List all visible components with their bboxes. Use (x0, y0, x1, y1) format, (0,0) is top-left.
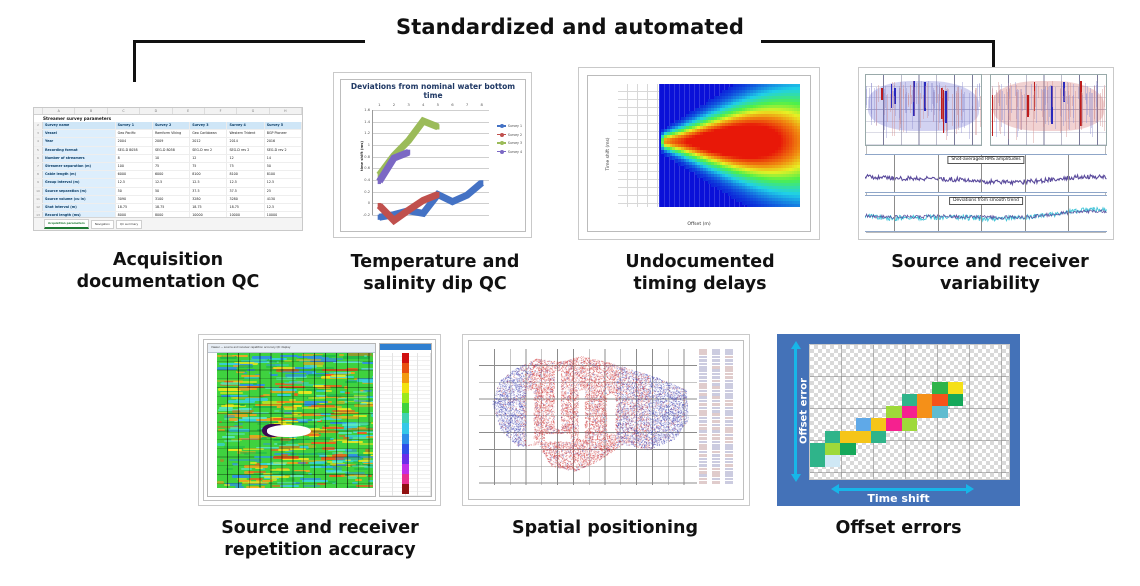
cell: 12.5 (265, 204, 302, 211)
data-gap (267, 425, 311, 437)
seismic-trace (866, 86, 867, 109)
legend-swatch (497, 151, 506, 153)
caption-undocumented-timing-delays: Undocumented timing delays (600, 252, 800, 296)
seismic-trace (910, 85, 911, 97)
repetition-heatmap: Viewer — source and receiver repetition … (207, 343, 376, 497)
x-tick: 7 (466, 102, 468, 107)
legend-column (699, 349, 707, 487)
spatial-positioning-map (463, 335, 749, 505)
legend-column (725, 349, 733, 487)
seismic-trace (1009, 89, 1010, 119)
series-marker (480, 180, 483, 185)
series-marker (451, 199, 454, 204)
cell: 18.75 (227, 204, 264, 211)
scale-swatch (402, 413, 409, 423)
cell: Cable length (m) (43, 171, 116, 178)
offset-error-axis-label: Offset error (799, 378, 810, 444)
scale-swatch (402, 393, 409, 403)
panel-gridline (894, 155, 895, 193)
cell: Survey 1 (116, 122, 153, 129)
cell: Survey name (43, 122, 116, 129)
seismic-trace (1001, 84, 1002, 127)
cell: 18.75 (116, 204, 153, 211)
col-H[interactable]: H (270, 108, 302, 114)
legend-label: Survey 1 (508, 124, 522, 128)
heatmap-empty-region (618, 84, 659, 207)
scale-swatch (402, 383, 409, 393)
series-marker (407, 208, 410, 213)
y-tick: 0.8 (364, 155, 370, 159)
y-tick: 0.2 (364, 190, 370, 194)
seismic-trace (976, 88, 977, 135)
seismic-trace (1016, 92, 1017, 140)
cell: 2016 (265, 138, 302, 145)
seismic-trace (1022, 95, 1023, 111)
legend-swatch (497, 134, 506, 136)
seismic-trace (914, 87, 915, 116)
scale-swatch (402, 464, 409, 474)
cell: 2014 (227, 138, 264, 145)
legend-label: Survey 3 (508, 141, 522, 145)
caption-source-receiver-repetition-accuracy: Source and receiver repetition accuracy (195, 518, 445, 562)
series-marker (436, 124, 439, 129)
cell: Survey 2 (153, 122, 190, 129)
seismic-trace (972, 90, 973, 106)
seismic-trace (871, 83, 872, 120)
series-marker (378, 215, 381, 220)
seismic-trace (1049, 86, 1050, 116)
spreadsheet-body: 3VesselGeo PacificRamform VikingGeo Cari… (34, 130, 302, 231)
y-tick: 0.4 (364, 178, 370, 182)
y-tick: 0 (368, 201, 370, 205)
cell: 37.5 (227, 188, 264, 195)
series-marker (392, 218, 395, 223)
table-row: 6Number of streamers810121214 (34, 155, 302, 163)
sheet-tab[interactable]: QC summary (116, 220, 142, 229)
seismic-trace (906, 92, 907, 133)
seismic-trace (1070, 83, 1071, 117)
cell: Geo Caribbean (190, 130, 227, 137)
legend-swatch (497, 142, 506, 144)
cell: 8 (116, 155, 153, 162)
rms-amplitude-panel: Shot-averaged RMS amplitudes (865, 154, 1107, 194)
seismic-trace (1048, 87, 1049, 125)
seismic-trace (885, 86, 886, 108)
seismic-trace (969, 93, 970, 139)
panel-gridline (1025, 196, 1026, 232)
legend-label: Survey 2 (508, 133, 522, 137)
timing-delay-heatmap: 01002003004005006007001086420-2-4-6-8-10… (579, 68, 819, 239)
thumbnail-temperature-salinity-dip-qc[interactable]: Deviations from nominal water bottom tim… (333, 72, 532, 238)
x-tick: 4 (422, 102, 424, 107)
seismic-trace (1075, 91, 1076, 129)
cell: 50 (116, 188, 153, 195)
panel-gridline (1068, 196, 1069, 232)
seismic-trace (894, 96, 895, 136)
series-marker (422, 198, 425, 203)
scale-swatch (402, 403, 409, 413)
col-E[interactable]: E (173, 108, 205, 114)
table-row: 11Source volume (cu in)30903100328032804… (34, 196, 302, 204)
seismic-trace (931, 83, 932, 113)
seismic-trace (887, 94, 888, 123)
series-marker (407, 150, 410, 155)
repetition-accuracy-display: Viewer — source and receiver repetition … (199, 335, 440, 505)
map-legend (699, 349, 739, 487)
seismic-trace (1018, 90, 1019, 131)
offset-error-cell[interactable] (825, 443, 840, 455)
offset-error-cell[interactable] (902, 406, 917, 418)
trace-panels (865, 74, 1107, 146)
thumbnail-source-and-receiver-variability[interactable]: Shot-averaged RMS amplitudes Deviations … (858, 67, 1114, 240)
window-title: Viewer — source and receiver repetition … (208, 344, 375, 353)
offset-error-cell[interactable] (932, 382, 947, 394)
seismic-trace (1086, 93, 1087, 123)
series-marker (378, 179, 381, 184)
offset-error-cell[interactable] (932, 394, 947, 406)
scale-swatch (402, 474, 409, 484)
heatmap-data-region (659, 84, 800, 207)
cell: 18.75 (153, 204, 190, 211)
cell: 12.5 (190, 179, 227, 186)
cell: 3280 (190, 196, 227, 203)
seismic-trace (876, 91, 877, 126)
heatmap-xlabel: Offset (m) (588, 222, 810, 227)
seismic-trace (1052, 81, 1053, 106)
offset-error-cell[interactable] (810, 455, 825, 467)
col-C[interactable]: C (108, 108, 140, 114)
chart-plot-area: 1.61.41.210.80.60.40.20-0.2 (372, 110, 489, 215)
cell: Ramform Viking (153, 130, 190, 137)
offset-error-grid (809, 344, 1011, 480)
caption-offset-errors: Offset errors (777, 518, 1020, 540)
offset-errors-display: Offset error Time shift (777, 334, 1020, 506)
seismic-trace (1096, 81, 1097, 107)
sheet-tab[interactable]: Navigation (91, 220, 114, 229)
cell: 12.5 (153, 179, 190, 186)
cell: Survey 5 (265, 122, 302, 129)
offset-error-cell[interactable] (917, 394, 932, 406)
seismic-trace (923, 95, 924, 119)
seismic-trace (912, 90, 913, 130)
seismic-trace (890, 94, 891, 113)
offset-error-cell[interactable] (825, 431, 840, 443)
panel-gridline (938, 155, 939, 193)
series-marker (436, 192, 439, 197)
legend-label: Survey 4 (508, 150, 522, 154)
thumbnail-offset-errors[interactable]: Offset error Time shift (777, 334, 1020, 506)
legend-item: Survey 2 (497, 133, 522, 137)
seismic-trace (878, 85, 879, 102)
scale-swatch (402, 484, 409, 494)
time-shift-axis-arrow (838, 488, 967, 491)
cell: Western Trident (227, 130, 264, 137)
seismic-trace (1045, 86, 1046, 105)
seismic-trace (948, 89, 949, 101)
col-F[interactable]: F (205, 108, 237, 114)
seismic-trace (952, 94, 953, 126)
seismic-trace (961, 90, 962, 120)
offset-error-cell[interactable] (825, 455, 840, 467)
scale-swatch (402, 444, 409, 454)
cell: 12 (190, 155, 227, 162)
seismic-trace (1025, 85, 1026, 111)
table-row: 8Cable length (m)60006000810081008100 (34, 171, 302, 179)
x-tick: 3 (407, 102, 409, 107)
panel-gridline (1025, 155, 1026, 193)
cell: 6000 (153, 171, 190, 178)
deviation-panel: Deviations from smooth trend (865, 195, 1107, 233)
series-marker (422, 118, 425, 123)
panel-label-rms: Shot-averaged RMS amplitudes (947, 156, 1024, 164)
cell: Group interval (m) (43, 179, 116, 186)
seismic-trace (1063, 96, 1064, 127)
seismic-trace (1100, 93, 1101, 127)
cell: 12.5 (227, 179, 264, 186)
series-marker (392, 156, 395, 161)
offset-error-cell[interactable] (856, 431, 871, 443)
cell: Shot interval (m) (43, 204, 116, 211)
seismic-trace (1078, 87, 1079, 100)
cell: SEG-D 8058 (153, 147, 190, 154)
seismic-trace (1043, 92, 1044, 127)
colour-scale-panel (379, 343, 432, 497)
y-tick: 0.6 (364, 166, 370, 170)
seismic-trace (957, 87, 958, 115)
slide-canvas: Standardized and automated A B C D E F G… (0, 0, 1140, 586)
seismic-trace (1102, 89, 1103, 127)
seismic-trace (1073, 95, 1074, 118)
bracket-line-right (761, 40, 995, 43)
seismic-trace (916, 83, 917, 104)
cell: 6000 (116, 171, 153, 178)
table-row: 9Group interval (m)12.512.512.512.512.5 (34, 179, 302, 187)
y-tick: -0.2 (363, 213, 370, 217)
cell: Source separation (m) (43, 188, 116, 195)
offset-error-cell[interactable] (948, 394, 963, 406)
cell: 8100 (265, 171, 302, 178)
seismic-trace (1055, 87, 1056, 129)
page-title: Standardized and automated (365, 15, 775, 39)
time-shift-axis-label: Time shift (777, 492, 1020, 505)
cell: Source volume (cu in) (43, 196, 116, 203)
colour-scale-bar (402, 353, 409, 494)
legend-item: Survey 4 (497, 150, 522, 154)
seismic-trace (963, 94, 964, 112)
panel-label-deviation: Deviations from smooth trend (949, 197, 1023, 205)
cell: 75 (190, 163, 227, 170)
scale-column (418, 353, 431, 496)
cell: 12 (227, 155, 264, 162)
legend-column (712, 349, 720, 487)
table-row: 10Source separation (m)505037.537.525 (34, 188, 302, 196)
cell: Vessel (43, 130, 116, 137)
positioning-scatter (479, 349, 697, 485)
chart-legend: Survey 1Survey 2Survey 3Survey 4 (497, 124, 522, 154)
cell: SEG-D rev 2 (265, 147, 302, 154)
seismic-trace (900, 88, 901, 128)
scale-swatch (402, 454, 409, 464)
series-marker (407, 138, 410, 143)
series-marker (378, 203, 381, 208)
seismic-trace (994, 95, 995, 122)
seismic-trace (1061, 83, 1062, 117)
y-tick: 1 (368, 143, 370, 147)
offset-error-cell[interactable] (871, 418, 886, 430)
cell: 8100 (227, 171, 264, 178)
offset-error-cell[interactable] (886, 418, 901, 430)
offset-error-cell[interactable] (948, 382, 963, 394)
cell: 12.5 (116, 179, 153, 186)
caption-acquisition-documentation-qc: Acquisition documentation QC (23, 250, 313, 294)
table-row: 4Year20042009201220142016 (34, 138, 302, 146)
chart-series-svg (372, 110, 489, 227)
scale-swatch (402, 434, 409, 444)
scale-swatch (402, 363, 409, 373)
cell: 75 (227, 163, 264, 170)
col-B[interactable]: B (75, 108, 107, 114)
seismic-trace (939, 85, 940, 111)
cell: Recording format (43, 147, 116, 154)
scale-swatch (402, 423, 409, 433)
cell: 12.5 (265, 179, 302, 186)
table-row: 7Streamer separation (m)10075757550 (34, 163, 302, 171)
cell: SEG-D rev 2 (190, 147, 227, 154)
cell: 37.5 (190, 188, 227, 195)
spreadsheet-app: A B C D E F G H Streamer survey paramete… (34, 108, 302, 230)
seismic-trace (1026, 93, 1027, 125)
panel-gridline (1068, 155, 1069, 193)
seismic-trace (1094, 86, 1095, 119)
seismic-trace (945, 91, 947, 123)
legend-item: Survey 3 (497, 141, 522, 145)
trace-panel-right (990, 74, 1107, 146)
scale-swatch (402, 373, 409, 383)
table-row: 2 Survey name Survey 1 Survey 2 Survey 3… (34, 122, 302, 130)
seismic-trace (980, 96, 981, 127)
seismic-trace (1029, 95, 1030, 114)
y-tick: 1.2 (364, 131, 370, 135)
seismic-trace (1038, 86, 1039, 98)
trace-panel-left (865, 74, 982, 146)
cell: 4130 (265, 196, 302, 203)
spreadsheet-title: Streamer survey parameters (34, 115, 302, 122)
x-tick: 6 (451, 102, 453, 107)
offset-error-cell[interactable] (840, 431, 855, 443)
seismic-trace (893, 91, 894, 108)
chart-title: Deviations from nominal water bottom tim… (349, 83, 517, 100)
thumbnail-acquisition-documentation-qc[interactable]: A B C D E F G H Streamer survey paramete… (33, 107, 303, 231)
seismic-trace (886, 95, 887, 139)
caption-source-and-receiver-variability: Source and receiver variability (880, 252, 1100, 296)
offset-error-cell[interactable] (932, 406, 947, 418)
spreadsheet-sheet-tabs: Acquisition parameters Navigation QC sum… (34, 217, 302, 230)
col-D[interactable]: D (140, 108, 172, 114)
seismic-trace (958, 93, 959, 130)
legend-item: Survey 1 (497, 124, 522, 128)
cell: 10 (153, 155, 190, 162)
series-marker (465, 193, 468, 198)
offset-error-cell[interactable] (871, 431, 886, 443)
thumbnail-source-receiver-repetition-accuracy[interactable]: Viewer — source and receiver repetition … (198, 334, 441, 506)
cell: Survey 4 (227, 122, 264, 129)
cell: 2009 (153, 138, 190, 145)
x-tick: 1 (378, 102, 380, 107)
cell: 2012 (190, 138, 227, 145)
offset-error-cell[interactable] (810, 443, 825, 455)
caption-spatial-positioning: Spatial positioning (480, 518, 730, 540)
cell: 3280 (227, 196, 264, 203)
sheet-tab-active[interactable]: Acquisition parameters (44, 219, 89, 229)
chart-xticks: 12345678 (372, 102, 489, 110)
cell: 8100 (190, 171, 227, 178)
scale-column (380, 353, 393, 496)
seismic-trace (908, 93, 909, 105)
cell: Streamer separation (m) (43, 163, 116, 170)
col-A[interactable]: A (43, 108, 75, 114)
col-G[interactable]: G (237, 108, 269, 114)
offset-error-cell[interactable] (917, 406, 932, 418)
panel-gridline (894, 196, 895, 232)
offset-error-cell[interactable] (856, 418, 871, 430)
seismic-trace (1004, 94, 1005, 135)
bracket-tick-left (133, 40, 136, 82)
seismic-trace (1065, 91, 1066, 122)
line-chart: Deviations from nominal water bottom tim… (334, 73, 531, 237)
bracket-line-left (133, 40, 365, 43)
seismic-trace (928, 81, 929, 116)
seismic-trace (992, 95, 994, 136)
cell: Geo Pacific (116, 130, 153, 137)
seismic-trace (1085, 83, 1086, 99)
variability-display: Shot-averaged RMS amplitudes Deviations … (859, 68, 1113, 239)
offset-error-cell[interactable] (840, 443, 855, 455)
seismic-trace (918, 90, 919, 104)
x-tick: 8 (480, 102, 482, 107)
seismic-trace (1011, 86, 1012, 112)
cell: BGP Pioneer (265, 130, 302, 137)
seismic-trace (956, 91, 957, 109)
cell: 18.75 (190, 204, 227, 211)
table-row: 5Recording formatSEG-D 8058SEG-D 8058SEG… (34, 147, 302, 155)
cell: Number of streamers (43, 155, 116, 162)
y-tick: 1.4 (364, 120, 370, 124)
cell: Survey 3 (190, 122, 227, 129)
cell: SEG-D 8058 (116, 147, 153, 154)
seismic-trace (869, 88, 870, 108)
x-tick: 2 (393, 102, 395, 107)
offset-error-cell[interactable] (902, 418, 917, 430)
offset-error-cell[interactable] (902, 394, 917, 406)
seismic-trace (1104, 85, 1105, 107)
thumbnail-undocumented-timing-delays[interactable]: 01002003004005006007001086420-2-4-6-8-10… (578, 67, 820, 240)
thumbnail-spatial-positioning[interactable] (462, 334, 750, 506)
cell: 2004 (116, 138, 153, 145)
offset-error-cell[interactable] (886, 406, 901, 418)
cell: 3090 (116, 196, 153, 203)
scale-swatch (402, 353, 409, 363)
seismic-trace (1031, 84, 1032, 109)
cell: 3100 (153, 196, 190, 203)
table-row: 12Shot interval (m)18.7518.7518.7518.751… (34, 204, 302, 212)
cell: 50 (265, 163, 302, 170)
seismic-trace (933, 90, 934, 106)
seismic-trace (934, 90, 935, 115)
seismic-trace (881, 88, 883, 100)
seismic-trace (1090, 88, 1091, 134)
heatmap-canvas (217, 353, 373, 488)
cell: 14 (265, 155, 302, 162)
